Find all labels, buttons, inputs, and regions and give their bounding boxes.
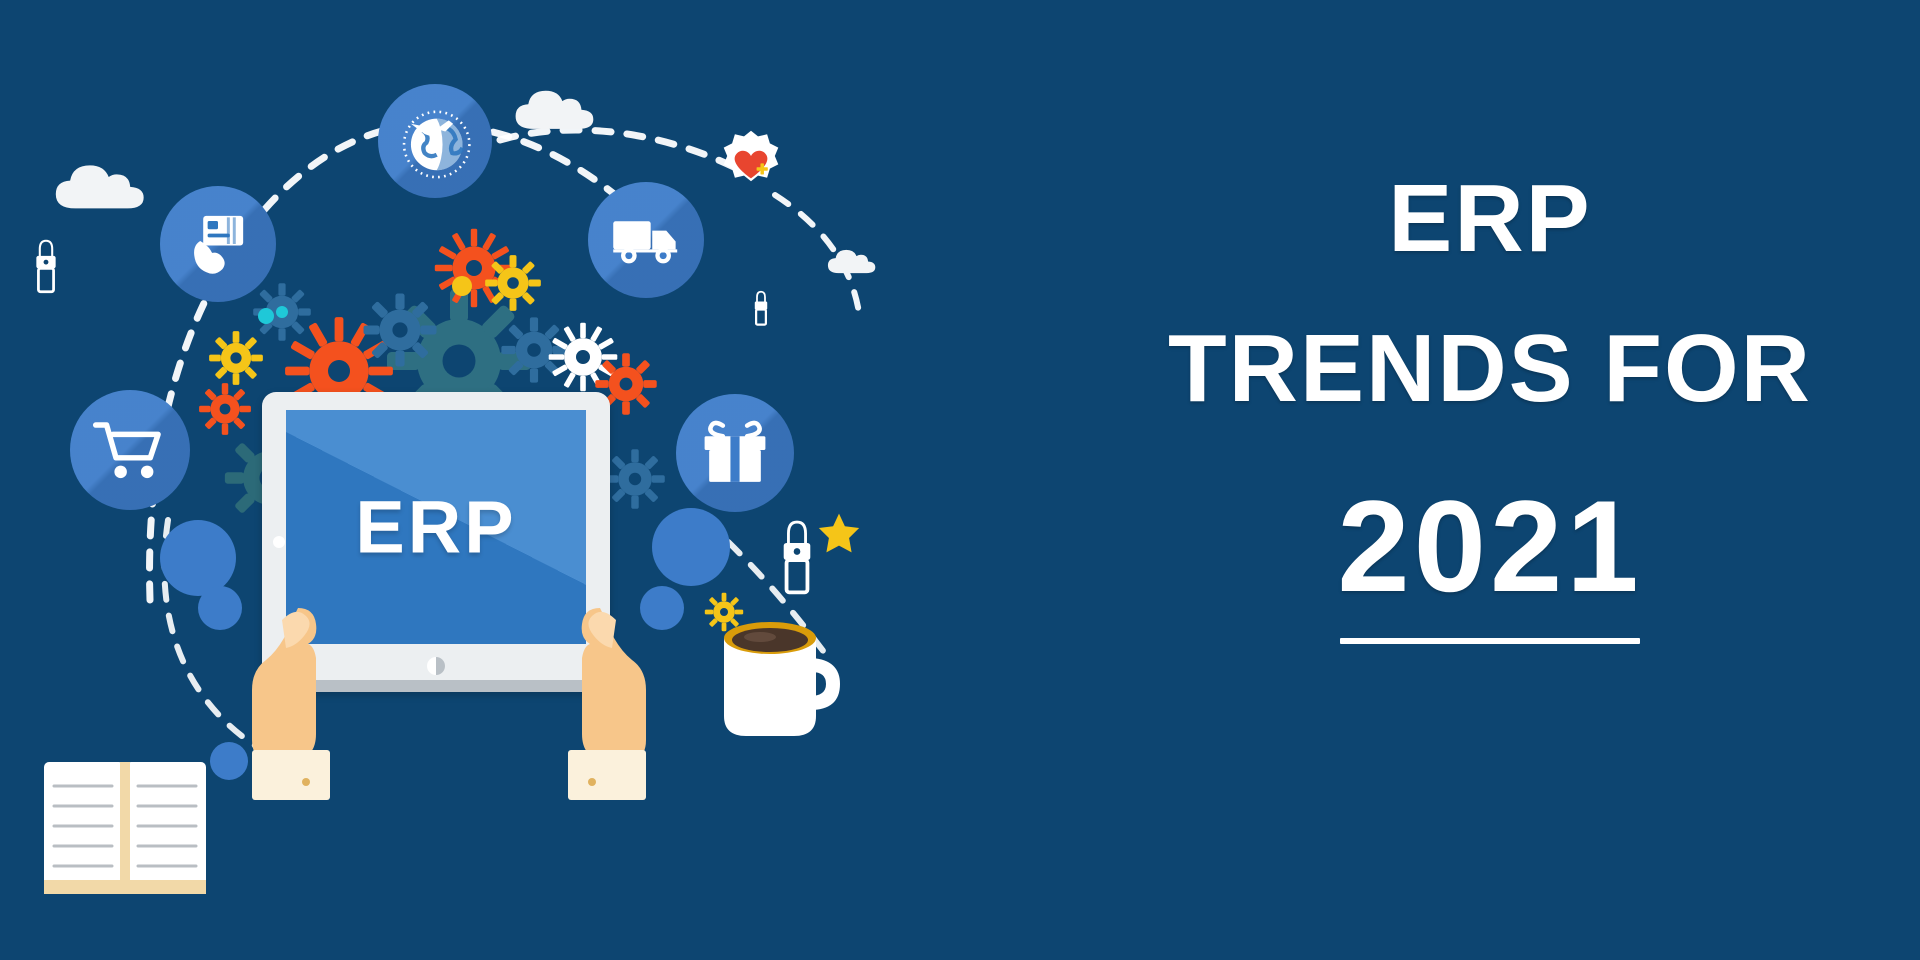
credit-card-glyph [181, 207, 255, 281]
star-glyph [818, 512, 860, 554]
erp-illustration: ERP [0, 0, 1000, 960]
left-hand [232, 600, 342, 805]
globe-airplane-icon[interactable] [378, 84, 492, 198]
headline-line-3: 2021 [1100, 480, 1880, 613]
gear-yellow-medium [484, 254, 542, 317]
gear-blue-lower [604, 448, 666, 515]
tag-glyph [752, 290, 770, 330]
cloud-glyph [826, 246, 884, 276]
right-hand-glyph [556, 600, 666, 800]
truck-glyph [607, 201, 685, 279]
price-tag-icon [778, 518, 816, 609]
cart-glyph [91, 411, 169, 489]
price-tag-icon [752, 290, 770, 335]
gear-dot-teal [258, 308, 274, 329]
tag-glyph [778, 518, 816, 604]
heart-plus-badge-icon[interactable] [716, 128, 786, 198]
left-hand-glyph [232, 600, 342, 800]
cloud-icon [52, 160, 160, 217]
gear-dot-yellow [452, 276, 472, 301]
headline-underline-rule [1340, 638, 1640, 644]
gear-blue-steel [362, 292, 438, 373]
gift-glyph [697, 415, 773, 491]
coffee-mug-icon [716, 618, 842, 753]
cloud-glyph [52, 160, 160, 212]
gift-box-icon[interactable] [676, 394, 794, 512]
medical-badge-glyph [716, 128, 786, 198]
credit-card-hand-icon[interactable] [160, 186, 276, 302]
headline-line-2: TRENDS FOR [1100, 320, 1880, 418]
open-book-icon [40, 756, 210, 911]
camera-dot [273, 536, 285, 548]
decor-bubble [160, 520, 236, 596]
book-glyph [40, 756, 210, 906]
price-tag-icon [32, 238, 60, 305]
cloud-icon [826, 246, 884, 281]
home-button[interactable] [427, 657, 445, 675]
cloud-icon [512, 86, 608, 137]
decor-bubble [652, 508, 730, 586]
shopping-cart-icon[interactable] [70, 390, 190, 510]
headline-block: ERP TRENDS FOR 2021 [1100, 170, 1880, 644]
screen-label: ERP [286, 485, 586, 570]
erp-trends-banner: ERP [0, 0, 1920, 960]
mug-glyph [716, 618, 842, 748]
right-hand [556, 600, 666, 805]
headline-line-1: ERP [1100, 170, 1880, 268]
tag-glyph [32, 238, 60, 300]
globe-icon-glyph [392, 98, 478, 184]
star-icon [818, 512, 860, 559]
delivery-truck-icon[interactable] [588, 182, 704, 298]
cloud-glyph [512, 86, 608, 132]
